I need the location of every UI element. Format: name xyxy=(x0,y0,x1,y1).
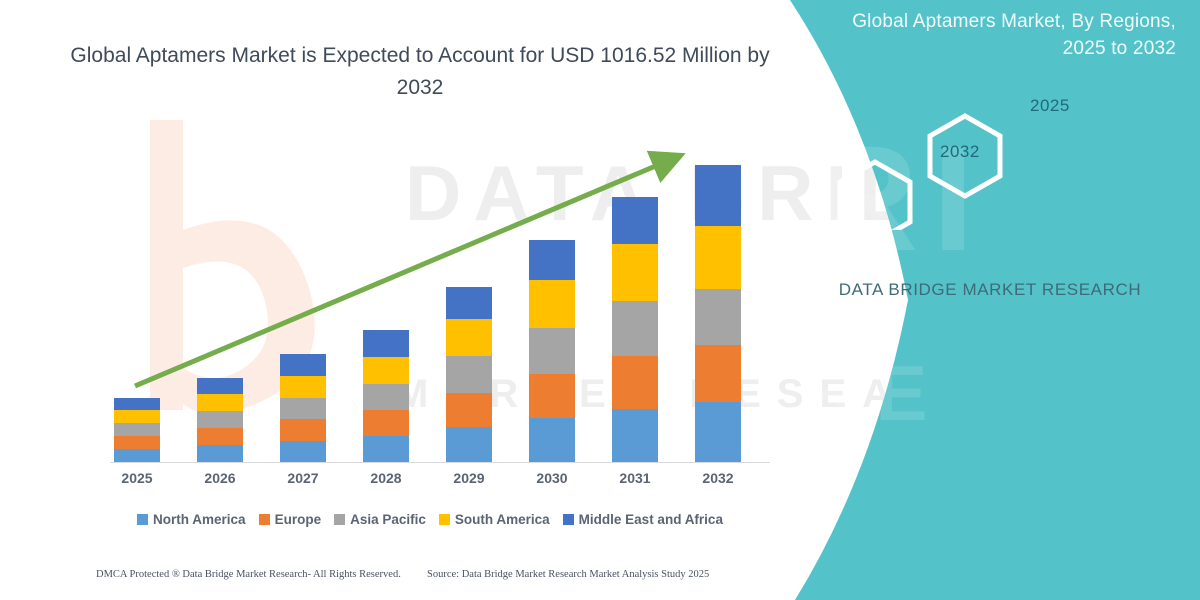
legend-label: Asia Pacific xyxy=(350,512,426,527)
bar-segment xyxy=(114,398,160,410)
bar-2028[interactable] xyxy=(363,330,409,462)
chart-legend: North AmericaEuropeAsia PacificSouth Ame… xyxy=(80,512,780,527)
bar-2032[interactable] xyxy=(695,165,741,462)
bar-segment xyxy=(529,418,575,462)
bar-segment xyxy=(612,244,658,301)
bar-2025[interactable] xyxy=(114,398,160,462)
legend-label: Middle East and Africa xyxy=(579,512,723,527)
legend-swatch-icon xyxy=(439,514,450,525)
bar-segment xyxy=(114,436,160,449)
bar-segment xyxy=(529,240,575,280)
legend-label: South America xyxy=(455,512,550,527)
bar-segment xyxy=(363,410,409,436)
x-tick-2032: 2032 xyxy=(688,470,748,486)
legend-item-north-america[interactable]: North America xyxy=(137,512,246,527)
x-axis-tick-labels: 20252026202720282029203020312032 xyxy=(80,470,780,494)
bar-group xyxy=(80,120,780,462)
bar-segment xyxy=(612,356,658,408)
infographic-canvas: DATA BRIDGE MARKET RESEARCH Global Aptam… xyxy=(0,0,1200,600)
bar-segment xyxy=(446,319,492,356)
bar-segment xyxy=(280,398,326,419)
bar-segment xyxy=(197,394,243,411)
bar-2026[interactable] xyxy=(197,378,243,462)
bar-segment xyxy=(197,445,243,462)
bar-segment xyxy=(612,197,658,244)
legend-swatch-icon xyxy=(563,514,574,525)
brand-panel: RI RE Global Aptamers Market, By Regions… xyxy=(780,0,1200,600)
bar-segment xyxy=(197,378,243,394)
bar-segment xyxy=(695,226,741,290)
bar-segment xyxy=(280,354,326,376)
bar-segment xyxy=(529,280,575,327)
footer-copyright: DMCA Protected ® Data Bridge Market Rese… xyxy=(96,569,401,580)
bar-segment xyxy=(446,427,492,462)
bar-segment xyxy=(363,357,409,384)
chart-title: Global Aptamers Market is Expected to Ac… xyxy=(70,40,770,104)
bar-segment xyxy=(612,301,658,356)
hexagon-shapes-icon xyxy=(780,100,1200,230)
legend-label: North America xyxy=(153,512,246,527)
panel-title: Global Aptamers Market, By Regions, 2025… xyxy=(846,8,1176,62)
bar-segment xyxy=(529,374,575,418)
bar-segment xyxy=(363,384,409,410)
x-tick-2028: 2028 xyxy=(356,470,416,486)
x-tick-2030: 2030 xyxy=(522,470,582,486)
legend-item-middle-east-and-africa[interactable]: Middle East and Africa xyxy=(563,512,723,527)
bar-segment xyxy=(695,402,741,462)
hexagon-label-2032: 2032 xyxy=(940,142,980,162)
x-tick-2029: 2029 xyxy=(439,470,499,486)
bar-segment xyxy=(280,441,326,462)
hexagon-group: 2032 2025 xyxy=(780,100,1200,230)
bar-segment xyxy=(612,409,658,462)
bar-2029[interactable] xyxy=(446,287,492,462)
bar-segment xyxy=(114,449,160,462)
bar-segment xyxy=(114,423,160,436)
bar-segment xyxy=(446,393,492,427)
bar-2027[interactable] xyxy=(280,354,326,462)
bar-segment xyxy=(695,289,741,344)
bar-segment xyxy=(446,287,492,319)
legend-item-europe[interactable]: Europe xyxy=(259,512,322,527)
footer: DMCA Protected ® Data Bridge Market Rese… xyxy=(0,569,800,589)
chart-plot-area: 20252026202720282029203020312032 xyxy=(80,120,780,465)
x-tick-2025: 2025 xyxy=(107,470,167,486)
bar-segment xyxy=(280,419,326,441)
bar-segment xyxy=(529,328,575,374)
bar-segment xyxy=(363,330,409,357)
x-tick-2031: 2031 xyxy=(605,470,665,486)
legend-swatch-icon xyxy=(334,514,345,525)
legend-item-asia-pacific[interactable]: Asia Pacific xyxy=(334,512,426,527)
legend-swatch-icon xyxy=(137,514,148,525)
bar-segment xyxy=(363,436,409,462)
legend-label: Europe xyxy=(275,512,322,527)
bar-segment xyxy=(695,165,741,226)
bar-segment xyxy=(114,410,160,423)
x-tick-2026: 2026 xyxy=(190,470,250,486)
bar-segment xyxy=(280,376,326,398)
footer-source: Source: Data Bridge Market Research Mark… xyxy=(427,569,709,580)
panel-brand-text: DATA BRIDGE MARKET RESEARCH xyxy=(780,277,1200,303)
bar-2031[interactable] xyxy=(612,197,658,462)
svg-text:RE: RE xyxy=(805,349,941,437)
x-tick-2027: 2027 xyxy=(273,470,333,486)
bar-2030[interactable] xyxy=(529,240,575,462)
legend-item-south-america[interactable]: South America xyxy=(439,512,550,527)
hexagon-label-2025: 2025 xyxy=(1030,96,1070,116)
legend-swatch-icon xyxy=(259,514,270,525)
x-axis-line xyxy=(110,462,770,463)
bar-segment xyxy=(446,356,492,392)
bar-segment xyxy=(197,428,243,445)
bar-segment xyxy=(695,345,741,403)
bar-segment xyxy=(197,411,243,427)
